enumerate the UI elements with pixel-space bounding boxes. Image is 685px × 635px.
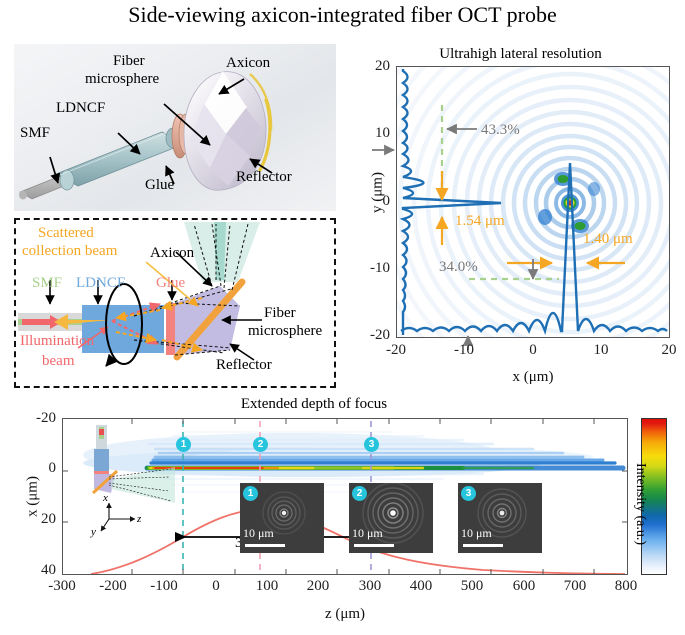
lat-xtick-0: 0: [513, 342, 553, 359]
edof-xtick-100: 100: [243, 578, 291, 595]
figure-title: Side-viewing axicon-integrated fiber OCT…: [0, 2, 685, 28]
edof-heatmap: x z y: [63, 419, 627, 574]
schem-label-smf: SMF: [32, 276, 62, 291]
colorbar-label: Intensity (a.u.): [632, 444, 648, 564]
schem-label-illumination-line1: Illumination: [20, 334, 94, 349]
schem-label-axicon: Axicon: [150, 246, 194, 261]
probe-axis-z: z: [136, 513, 142, 525]
edof-plot-area: x z y: [62, 418, 628, 575]
probe-schematic-panel: Scattered collection beam SMF LDNCF Glue…: [14, 218, 336, 388]
edof-marker-badge-2[interactable]: 2: [253, 437, 268, 452]
psf-inset-2[interactable]: 2 10 μm: [349, 483, 433, 553]
schem-label-illumination-line2: beam: [42, 354, 74, 369]
schem-label-fiber-line1: Fiber: [264, 306, 296, 321]
edof-xtick-n100: -100: [140, 578, 188, 595]
probe-3d-render-panel: SMF LDNCF Glue Fiber microsphere Axicon …: [14, 44, 336, 211]
edof-x-axis-label: z (μm): [62, 606, 628, 623]
edof-xtick-n200: -200: [89, 578, 137, 595]
edof-ytick-40: 40: [22, 562, 56, 579]
edof-xtick-300: 300: [346, 578, 394, 595]
psf-inset-scalebar-3: [463, 544, 503, 547]
edof-ytick-n20: -20: [22, 410, 56, 427]
edof-xtick-800: 800: [602, 578, 650, 595]
render-label-reflector: Reflector: [236, 170, 292, 186]
psf-inset-scalebar-text-3: 10 μm: [461, 526, 492, 541]
psf-inset-badge-1: 1: [243, 486, 258, 501]
lat-ytick-n10: -10: [354, 260, 390, 277]
lateral-x-axis-label: x (μm): [396, 369, 670, 386]
psf-inset-scalebar-text-1: 10 μm: [243, 526, 274, 541]
render-label-fiber-microsphere-line2: microsphere: [85, 72, 159, 88]
render-label-ldncf: LDNCF: [56, 101, 105, 117]
probe-3d-illustration: [14, 44, 336, 211]
lat-xtick-n10: -10: [444, 342, 484, 359]
lat-ytick-20: 20: [354, 58, 390, 75]
lat-xtick-20: 20: [649, 342, 685, 359]
schem-label-reflector: Reflector: [216, 358, 272, 373]
render-label-glue: Glue: [145, 178, 174, 194]
psf-inset-scalebar-text-2: 10 μm: [352, 526, 383, 541]
psf-inset-badge-3: 3: [461, 486, 476, 501]
lateral-resolution-panel: Ultrahigh lateral resolution: [356, 44, 685, 389]
annotation-1-54um: 1.54 μm: [455, 213, 505, 229]
edof-xtick-n300: -300: [38, 578, 86, 595]
annotation-1-40um: 1.40 μm: [583, 231, 633, 247]
lateral-y-axis-label: y (μm): [370, 133, 387, 253]
annotation-34-percent: 34.0%: [439, 259, 478, 275]
lateral-resolution-plot-area: 43.3% 1.54 μm 34.0% 1.40 μm: [396, 66, 670, 338]
lat-xtick-10: 10: [581, 342, 621, 359]
edof-marker-badge-1[interactable]: 1: [176, 437, 191, 452]
render-label-smf: SMF: [20, 126, 50, 142]
psf-inset-scalebar-1: [245, 544, 285, 547]
schem-label-ldncf: LDNCF: [76, 276, 125, 291]
edof-xtick-200: 200: [294, 578, 342, 595]
lateral-resolution-title: Ultrahigh lateral resolution: [356, 46, 685, 63]
render-label-axicon: Axicon: [226, 56, 270, 72]
edof-xtick-700: 700: [551, 578, 599, 595]
psf-heatmap: 43.3% 1.54 μm 34.0% 1.40 μm: [397, 67, 669, 337]
glue-layer: [166, 303, 175, 355]
edof-xtick-600: 600: [500, 578, 548, 595]
edof-xtick-0: 0: [192, 578, 240, 595]
edof-xtick-500: 500: [448, 578, 496, 595]
render-label-fiber-microsphere-line1: Fiber: [113, 54, 145, 70]
schem-label-glue: Glue: [156, 276, 185, 291]
probe-axis-y: y: [90, 526, 96, 538]
annotation-43-percent: 43.3%: [481, 122, 520, 138]
psf-inset-scalebar-2: [354, 544, 394, 547]
schem-label-scattered-line1: Scattered: [38, 226, 94, 241]
psf-inset-badge-2: 2: [352, 486, 367, 501]
edof-panel: Extended depth of focus: [0, 396, 685, 635]
psf-inset-1[interactable]: 1 10 μm: [240, 483, 324, 553]
edof-title: Extended depth of focus: [0, 396, 628, 413]
schem-label-fiber-line2: microsphere: [248, 324, 322, 339]
edof-xtick-400: 400: [397, 578, 445, 595]
edof-marker-badge-3[interactable]: 3: [364, 437, 379, 452]
probe-axis-x: x: [102, 492, 108, 504]
psf-inset-3[interactable]: 3 10 μm: [458, 483, 542, 553]
schem-label-scattered-line2: collection beam: [22, 244, 117, 259]
edof-y-axis-label: x (μm): [25, 442, 42, 552]
lat-xtick-n20: -20: [376, 342, 416, 359]
